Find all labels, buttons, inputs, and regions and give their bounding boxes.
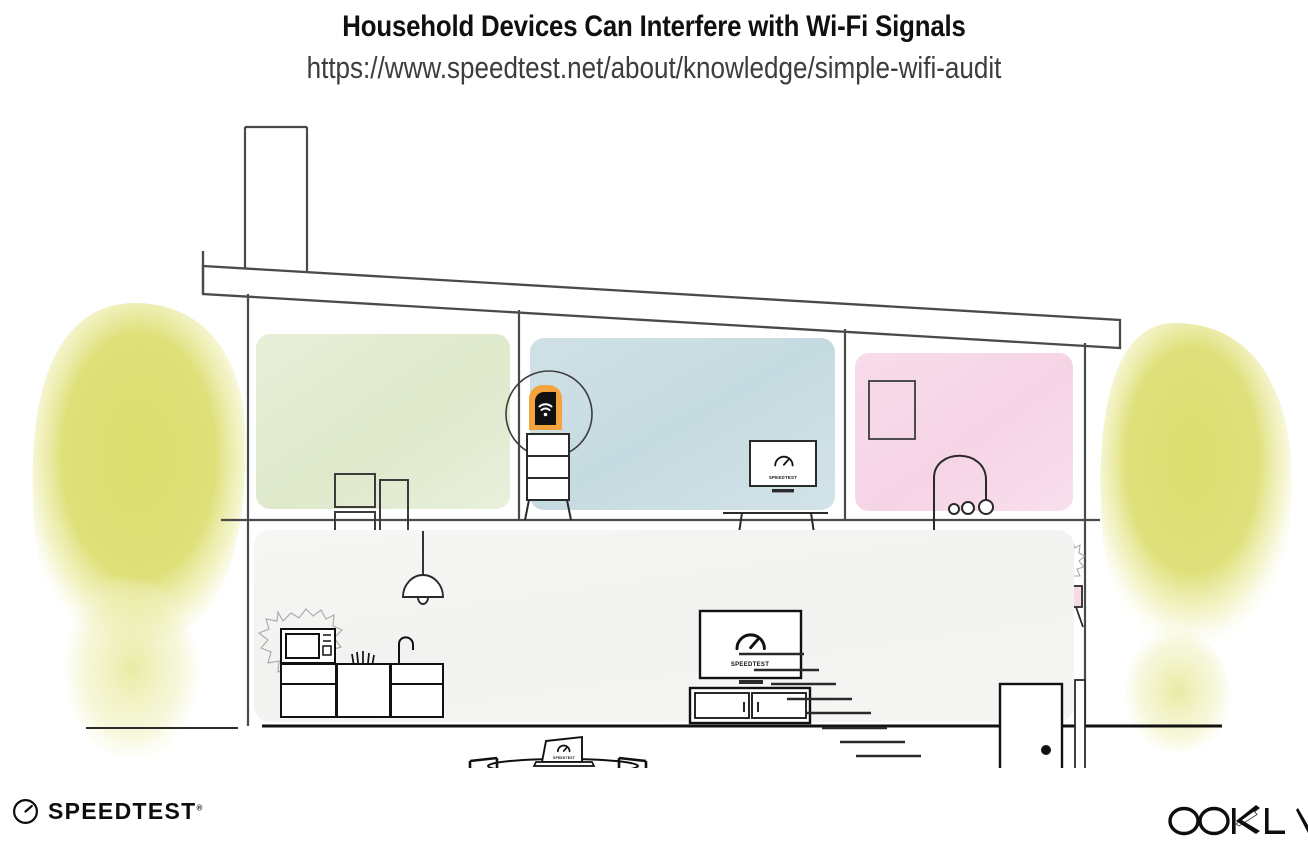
front-door xyxy=(1000,684,1062,768)
speedtest-wordmark: SPEEDTEST® xyxy=(48,800,202,823)
television: SPEEDTEST xyxy=(700,611,801,684)
illustration-page: Household Devices Can Interfere with Wi-… xyxy=(0,0,1308,861)
svg-text:SPEEDTEST: SPEEDTEST xyxy=(553,756,576,760)
microwave-oven xyxy=(281,629,335,663)
roof xyxy=(203,251,1120,348)
ookla-wordmark-icon xyxy=(1164,800,1308,842)
page-url: https://www.speedtest.net/about/knowledg… xyxy=(105,50,1204,86)
speedtest-logo[interactable]: SPEEDTEST® xyxy=(12,798,202,825)
foliage-left xyxy=(32,303,245,758)
page-title: Household Devices Can Interfere with Wi-… xyxy=(92,10,1217,44)
speedtest-logo-text: SPEEDTEST xyxy=(48,798,196,824)
speedtest-trademark: ® xyxy=(196,803,202,812)
wall-trim xyxy=(1075,680,1085,768)
header: Household Devices Can Interfere with Wi-… xyxy=(0,0,1308,86)
desktop-monitor: SPEEDTEST xyxy=(750,441,816,492)
ookla-logo[interactable] xyxy=(1164,800,1308,847)
house-illustration: SPEEDTEST xyxy=(0,108,1308,768)
wifi-router xyxy=(529,385,562,430)
svg-text:SPEEDTEST: SPEEDTEST xyxy=(731,662,769,668)
ground-floor: SPEEDTEST xyxy=(86,530,1222,768)
footer: SPEEDTEST® xyxy=(0,790,1308,850)
svg-text:SPEEDTEST: SPEEDTEST xyxy=(769,475,797,480)
foliage-right xyxy=(1100,323,1292,753)
media-console xyxy=(690,688,810,723)
chimney xyxy=(245,127,307,278)
kitchen-cabinets xyxy=(281,664,443,717)
speedometer-gauge-icon xyxy=(12,798,39,825)
laptop: SPEEDTEST xyxy=(534,737,594,766)
